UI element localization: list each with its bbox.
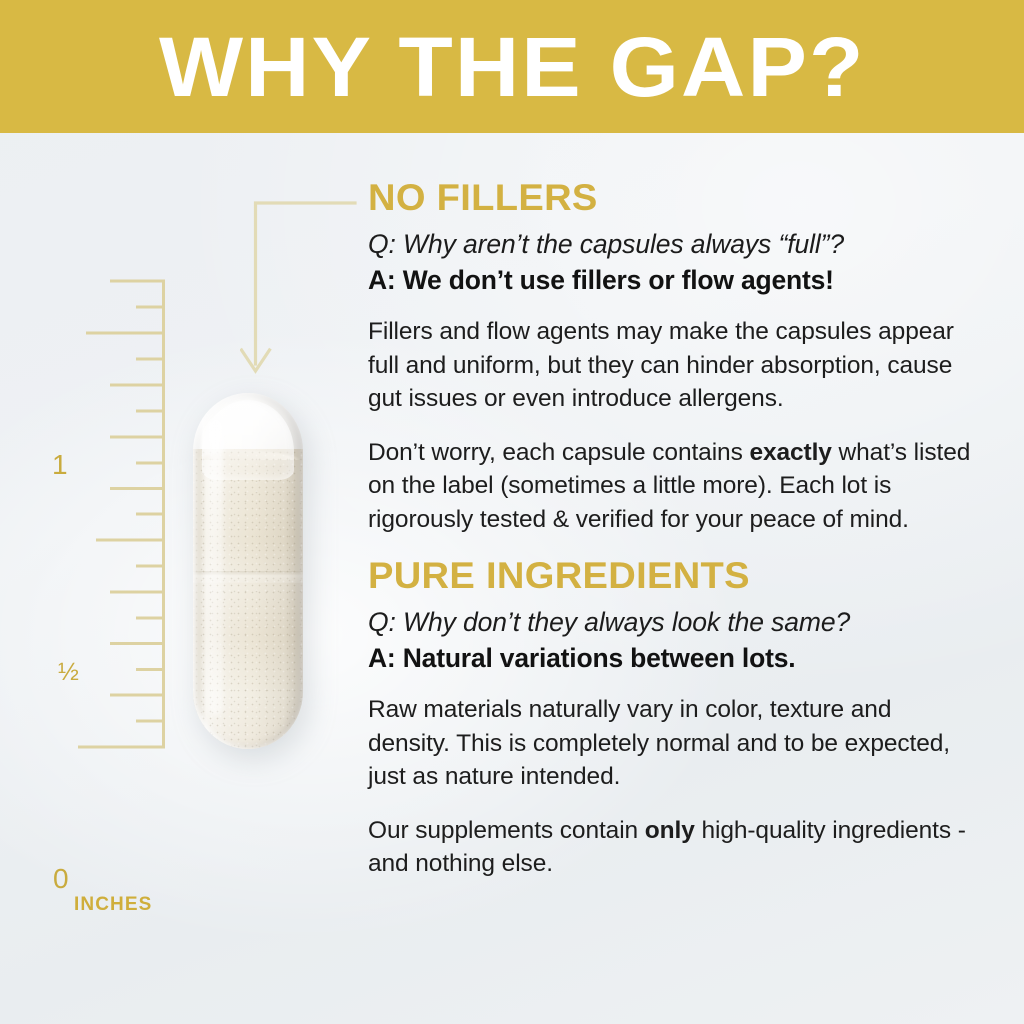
ruler-unit-label: INCHES — [74, 894, 152, 916]
ruler-label-half: ½ — [58, 658, 79, 686]
answer-pure-ingredients: A: Natural variations between lots. — [368, 641, 976, 675]
arrow-icon — [240, 190, 370, 385]
capsule-image — [189, 389, 309, 753]
page-title: WHY THE GAP? — [159, 25, 865, 109]
content-column: NO FILLERS Q: Why aren’t the capsules al… — [368, 178, 976, 901]
ruler-label-0: 0 — [53, 865, 69, 893]
paragraph-no-fillers-1: Fillers and flow agents may make the cap… — [368, 315, 976, 416]
gap-pointer-arrow — [240, 190, 370, 385]
question-no-fillers: Q: Why aren’t the capsules always “full”… — [368, 228, 976, 261]
infographic-page: WHY THE GAP? — [0, 0, 1024, 1024]
paragraph-no-fillers-2: Don’t worry, each capsule contains exact… — [368, 436, 976, 537]
ruler-label-1: 1 — [52, 451, 68, 479]
capsule-shell — [193, 393, 303, 749]
section-heading-no-fillers: NO FILLERS — [368, 178, 994, 218]
paragraph-pure-ingredients-2: Our supplements contain only high-qualit… — [368, 814, 976, 881]
question-pure-ingredients: Q: Why don’t they always look the same? — [368, 606, 976, 639]
section-heading-pure-ingredients: PURE INGREDIENTS — [368, 556, 994, 596]
paragraph-pure-ingredients-1: Raw materials naturally vary in color, t… — [368, 693, 976, 794]
header-banner: WHY THE GAP? — [0, 0, 1024, 133]
answer-no-fillers: A: We don’t use fillers or flow agents! — [368, 263, 976, 297]
capsule-highlight — [208, 419, 223, 715]
